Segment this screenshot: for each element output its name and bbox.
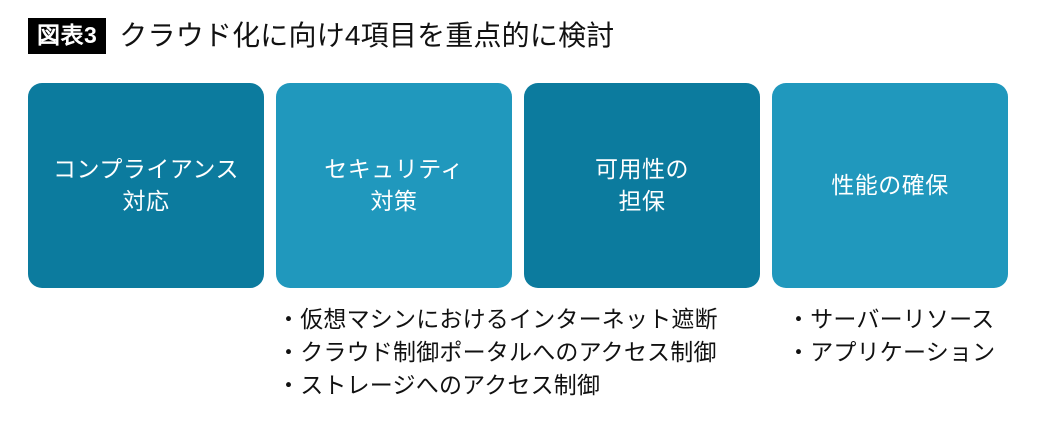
card-security: セキュリティ 対策: [276, 83, 512, 288]
security-detail-list: ・仮想マシンにおけるインターネット遮断 ・クラウド制御ポータルへのアクセス制御 …: [277, 303, 777, 402]
performance-detail-list: ・サーバーリソース ・アプリケーション: [787, 303, 1047, 369]
card-availability: 可用性の 担保: [524, 83, 760, 288]
card-compliance: コンプライアンス 対応: [28, 83, 264, 288]
card-compliance-label: コンプライアンス 対応: [53, 154, 239, 216]
figure-title: クラウド化に向け4項目を重点的に検討: [119, 22, 614, 50]
list-item: ・仮想マシンにおけるインターネット遮断: [277, 303, 777, 336]
card-performance-label: 性能の確保: [831, 170, 949, 201]
list-item: ・アプリケーション: [787, 336, 1047, 369]
list-item: ・ストレージへのアクセス制御: [277, 369, 777, 402]
card-security-label: セキュリティ 対策: [324, 154, 464, 216]
card-performance: 性能の確保: [772, 83, 1008, 288]
card-availability-label: 可用性の 担保: [595, 154, 689, 216]
list-item: ・サーバーリソース: [787, 303, 1047, 336]
list-item: ・クラウド制御ポータルへのアクセス制御: [277, 336, 777, 369]
figure-header: 図表3 クラウド化に向け4項目を重点的に検討: [28, 16, 614, 56]
figure-number-badge: 図表3: [28, 18, 106, 54]
category-card-row: コンプライアンス 対応 セキュリティ 対策 可用性の 担保 性能の確保: [28, 83, 1008, 288]
